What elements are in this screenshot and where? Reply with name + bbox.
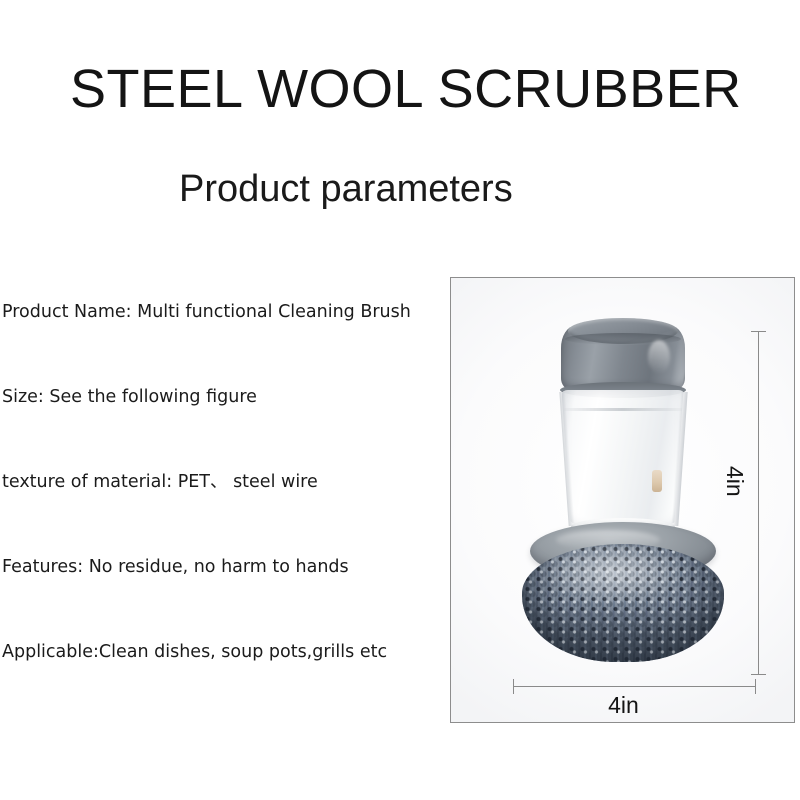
spec-material: texture of material: PET、 steel wire — [2, 470, 442, 555]
reservoir-liquid-line — [564, 408, 682, 411]
product-spec-list: Product Name: Multi functional Cleaning … — [2, 300, 442, 725]
height-dimension-tick-bottom — [751, 674, 766, 675]
height-dimension-line — [758, 331, 759, 674]
product-cap-highlight — [648, 340, 670, 374]
spec-features: Features: No residue, no harm to hands — [2, 555, 442, 640]
height-dimension-label: 4in — [721, 466, 748, 497]
product-reservoir — [562, 390, 684, 530]
page-title: STEEL WOOL SCRUBBER — [70, 62, 742, 116]
spec-applicable: Applicable:Clean dishes, soup pots,grill… — [2, 640, 442, 725]
reservoir-inner-pellet — [652, 470, 662, 492]
page-subtitle: Product parameters — [179, 170, 513, 208]
spec-product-name: Product Name: Multi functional Cleaning … — [2, 300, 442, 385]
width-dimension-line — [513, 686, 756, 687]
spec-size: Size: See the following figure — [2, 385, 442, 470]
product-scrubber-ball — [522, 544, 724, 662]
height-dimension-tick-top — [751, 331, 766, 332]
product-illustration — [498, 304, 748, 694]
product-photo-panel: 4in 4in — [450, 277, 795, 723]
width-dimension-label: 4in — [451, 692, 795, 719]
scrubber-shading — [522, 544, 724, 662]
